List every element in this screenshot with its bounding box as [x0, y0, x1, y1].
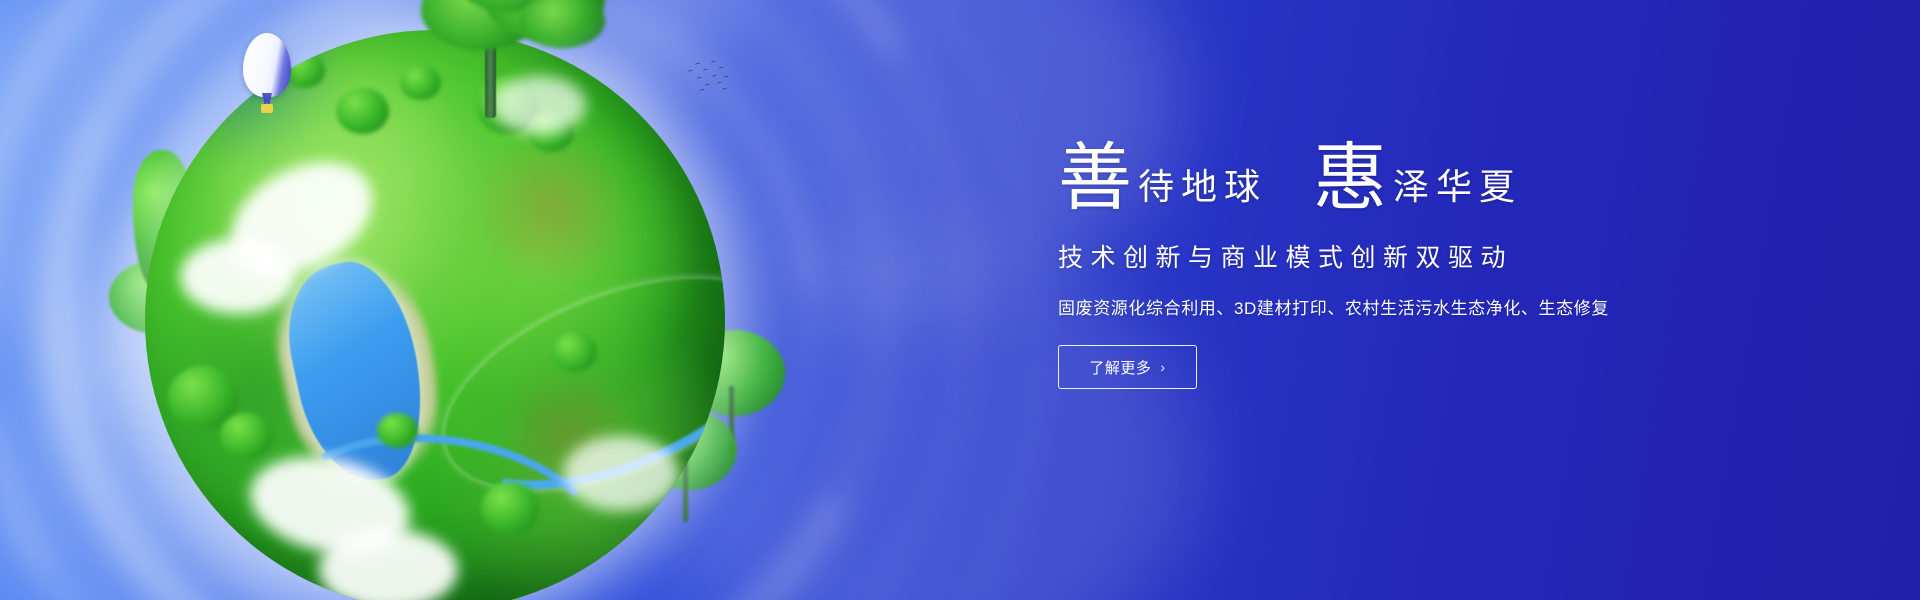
- banner-copy: 善 待地球 惠 泽华夏 技术创新与商业模式创新双驱动 固废资源化综合利用、3D建…: [1058, 126, 1618, 389]
- hero-banner: 善 待地球 惠 泽华夏 技术创新与商业模式创新双驱动 固废资源化综合利用、3D建…: [0, 0, 1920, 600]
- large-tree: [415, 0, 615, 123]
- headline-char-hui: 惠: [1313, 144, 1387, 212]
- tree-clump: [220, 413, 272, 459]
- flock-of-birds-icon: [688, 60, 730, 96]
- tree-clump: [377, 413, 418, 448]
- headline-text-daidiqiu: 待地球: [1132, 170, 1267, 206]
- globe-cloud: [180, 239, 296, 314]
- tree-canopy: [519, 0, 605, 48]
- banner-subtitle: 技术创新与商业模式创新双驱动: [1058, 238, 1618, 274]
- headline-text-zehuaxia: 泽华夏: [1387, 170, 1522, 206]
- learn-more-label: 了解更多: [1089, 357, 1151, 378]
- globe-cloud: [563, 436, 679, 511]
- chevron-right-icon: ›: [1160, 360, 1165, 374]
- terrain-patch: [464, 134, 638, 285]
- hot-air-balloon: [243, 33, 291, 121]
- tree-clump: [336, 88, 388, 134]
- headline-char-shan: 善: [1058, 144, 1132, 212]
- banner-description: 固废资源化综合利用、3D建材打印、农村生活污水生态净化、生态修复: [1058, 294, 1618, 319]
- balloon-envelope: [243, 33, 291, 97]
- tree-clump: [481, 482, 539, 534]
- balloon-basket: [261, 104, 273, 113]
- page-title: 善 待地球 惠 泽华夏: [1058, 126, 1618, 212]
- learn-more-button[interactable]: 了解更多 ›: [1058, 345, 1197, 389]
